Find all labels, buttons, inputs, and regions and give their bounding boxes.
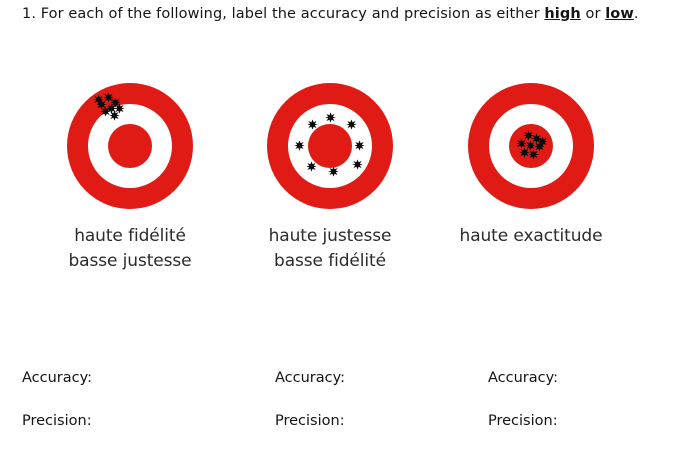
targets-row: haute fidélité basse justesse haute just… bbox=[0, 0, 700, 300]
bullet-hole-mark bbox=[352, 159, 363, 170]
bullet-hole-mark bbox=[93, 94, 104, 105]
target-caption-line-1: haute exactitude bbox=[416, 224, 646, 249]
bullet-hole-mark bbox=[537, 136, 548, 147]
target-caption-line-1: haute fidélité bbox=[15, 224, 245, 249]
bullet-hole-mark bbox=[528, 149, 539, 160]
bullet-hole-mark bbox=[516, 138, 527, 149]
target-caption-line-2: basse fidélité bbox=[215, 249, 445, 274]
target-caption-line-2: basse justesse bbox=[15, 249, 245, 274]
bullet-hole-mark bbox=[110, 97, 121, 108]
bullet-hole-mark bbox=[109, 110, 120, 121]
bullet-hole-mark bbox=[114, 103, 125, 114]
accuracy-label-3: Accuracy: bbox=[488, 370, 558, 386]
target-graphic-1 bbox=[67, 83, 193, 209]
target-caption-line-1: haute justesse bbox=[215, 224, 445, 249]
bullet-hole-mark bbox=[325, 112, 336, 123]
bullet-hole-mark bbox=[96, 99, 107, 110]
answers-row: Accuracy: Precision: Accuracy: Precision… bbox=[0, 355, 700, 455]
bullet-hole-mark bbox=[307, 119, 318, 130]
target-block-2: haute justesse basse fidélité bbox=[215, 0, 445, 300]
bullet-hole-mark bbox=[328, 166, 339, 177]
bullet-hole-mark bbox=[346, 119, 357, 130]
bullet-hole-mark bbox=[294, 140, 305, 151]
bullet-hole-mark bbox=[523, 130, 534, 141]
target-caption-2: haute justesse basse fidélité bbox=[215, 224, 445, 274]
target-marks-1 bbox=[67, 83, 193, 209]
bullet-hole-mark bbox=[531, 133, 542, 144]
target-caption-3: haute exactitude bbox=[416, 224, 646, 249]
bullet-hole-mark bbox=[103, 92, 114, 103]
bullet-hole-mark bbox=[525, 140, 536, 151]
bullet-hole-mark bbox=[534, 141, 545, 152]
target-marks-2 bbox=[267, 83, 393, 209]
accuracy-label-1: Accuracy: bbox=[22, 370, 92, 386]
bullet-hole-mark bbox=[354, 140, 365, 151]
target-block-3: haute exactitude bbox=[416, 0, 646, 300]
accuracy-label-2: Accuracy: bbox=[275, 370, 345, 386]
bullet-hole-mark bbox=[519, 147, 530, 158]
target-block-1: haute fidélité basse justesse bbox=[15, 0, 245, 300]
precision-label-1: Precision: bbox=[22, 413, 92, 429]
bullet-hole-mark bbox=[100, 106, 111, 117]
precision-label-3: Precision: bbox=[488, 413, 558, 429]
bullet-hole-mark bbox=[106, 103, 117, 114]
target-graphic-2 bbox=[267, 83, 393, 209]
bullet-hole-mark bbox=[306, 161, 317, 172]
precision-label-2: Precision: bbox=[275, 413, 345, 429]
target-caption-1: haute fidélité basse justesse bbox=[15, 224, 245, 274]
target-graphic-3 bbox=[468, 83, 594, 209]
target-marks-3 bbox=[468, 83, 594, 209]
